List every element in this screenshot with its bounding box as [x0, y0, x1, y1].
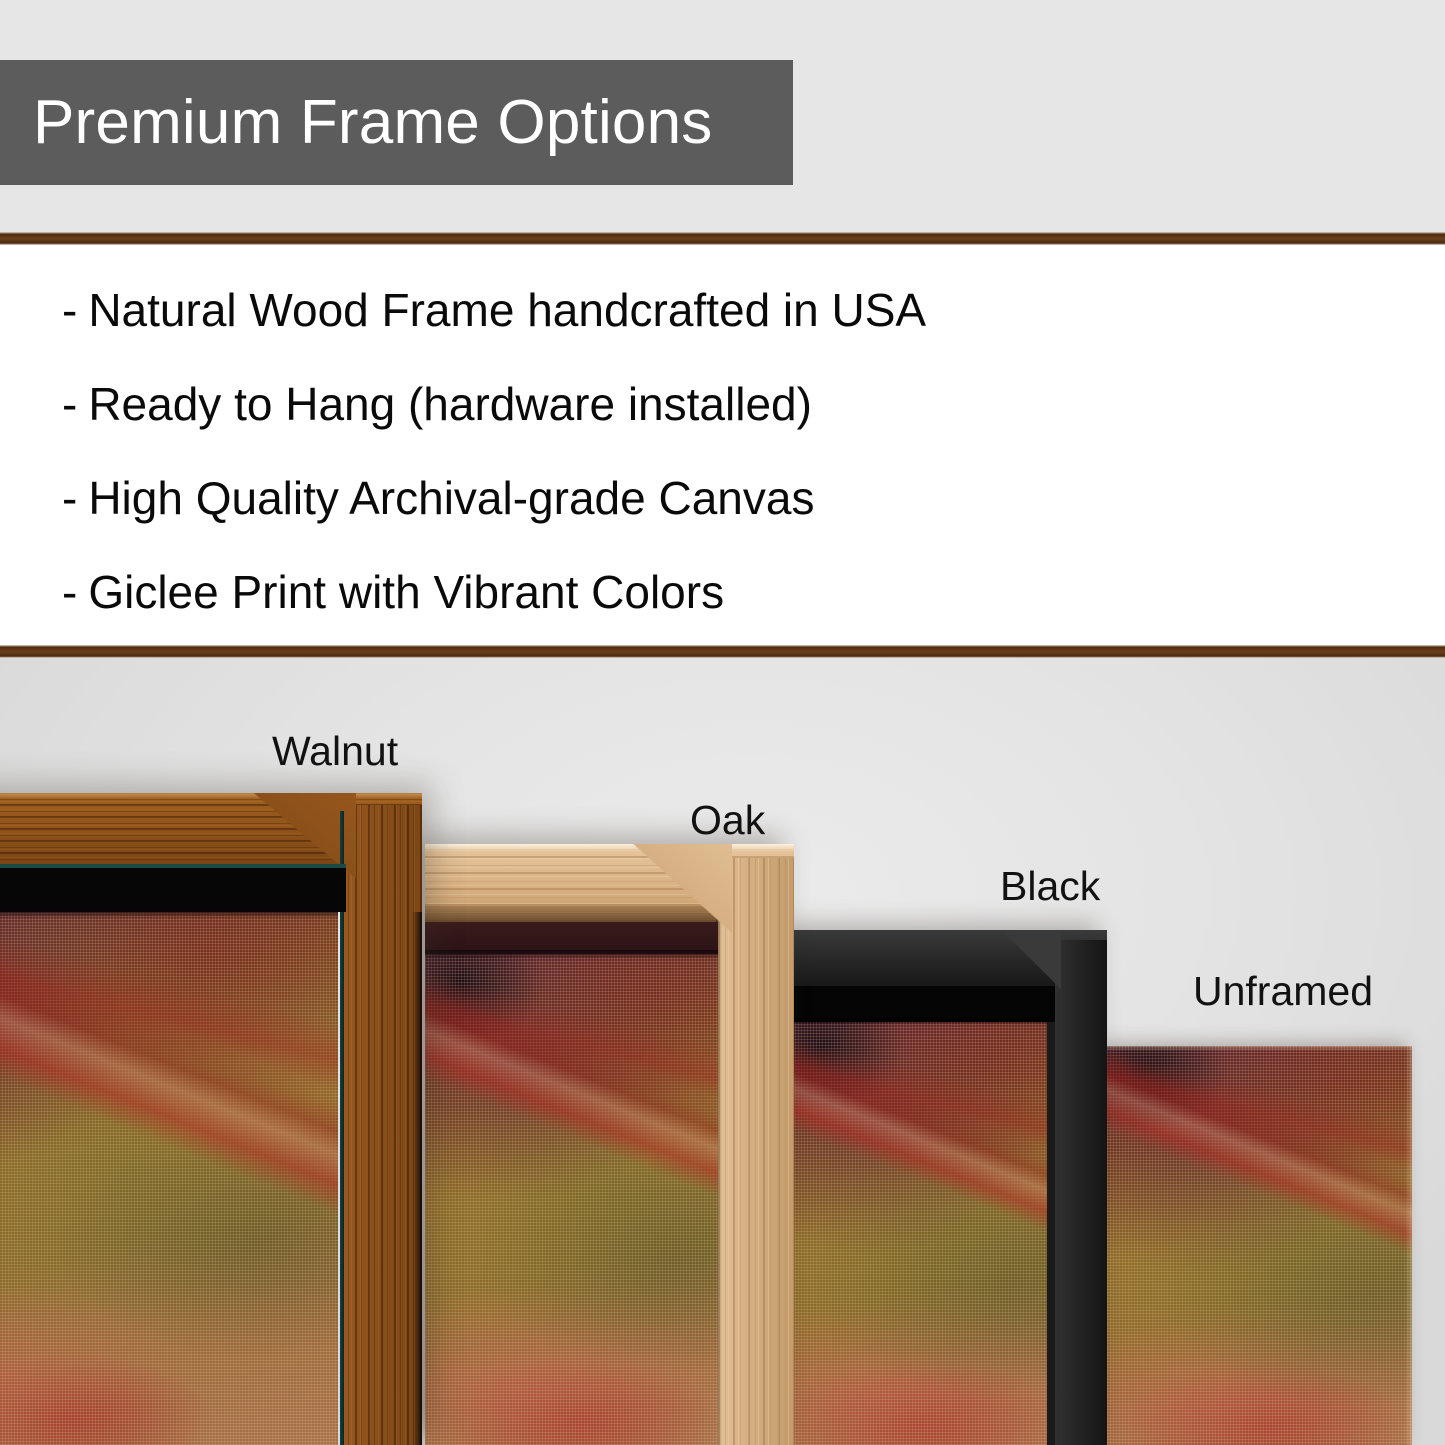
feature-item: -Ready to Hang (hardware installed): [62, 381, 1445, 427]
bullet-dash: -: [62, 475, 77, 521]
divider-bottom: [0, 645, 1445, 658]
unframed-canvas[interactable]: [1107, 1046, 1412, 1445]
divider-top: [0, 232, 1445, 245]
black-frame-right-rail: [1055, 940, 1107, 1445]
bullet-dash: -: [62, 569, 77, 615]
label-unframed: Unframed: [1193, 971, 1373, 1012]
artwork-black: [789, 1022, 1047, 1445]
page-title: Premium Frame Options: [0, 92, 712, 154]
artwork-walnut: [0, 912, 338, 1445]
title-bar: Premium Frame Options: [0, 60, 793, 185]
artwork-unframed: [1107, 1046, 1412, 1445]
black-frame[interactable]: [789, 930, 1107, 1445]
feature-text: High Quality Archival-grade Canvas: [88, 472, 814, 524]
feature-item: -High Quality Archival-grade Canvas: [62, 475, 1445, 521]
label-walnut: Walnut: [272, 731, 398, 772]
features-panel: -Natural Wood Frame handcrafted in USA -…: [0, 245, 1445, 645]
label-black: Black: [1000, 866, 1100, 907]
feature-text: Giclee Print with Vibrant Colors: [88, 566, 724, 618]
oak-frame[interactable]: [425, 844, 794, 1445]
walnut-frame[interactable]: [0, 793, 422, 1445]
frame-options-infographic: Premium Frame Options -Natural Wood Fram…: [0, 0, 1445, 1445]
feature-text: Ready to Hang (hardware installed): [88, 378, 812, 430]
black-frame-liner: [789, 986, 1055, 1022]
bullet-dash: -: [62, 287, 77, 333]
bullet-dash: -: [62, 381, 77, 427]
frame-showcase: Walnut Oak Black Unframed: [0, 658, 1445, 1445]
oak-frame-right-rail: [718, 858, 794, 1445]
features-list: -Natural Wood Frame handcrafted in USA -…: [0, 245, 1445, 663]
feature-text: Natural Wood Frame handcrafted in USA: [88, 284, 926, 336]
feature-item: -Natural Wood Frame handcrafted in USA: [62, 287, 1445, 333]
walnut-frame-right-rail: [342, 805, 422, 1445]
header-band: Premium Frame Options: [0, 0, 1445, 236]
black-frame-miter: [1001, 930, 1061, 992]
feature-item: -Giclee Print with Vibrant Colors: [62, 569, 1445, 615]
walnut-frame-liner: [0, 866, 346, 912]
artwork-oak: [425, 954, 718, 1445]
label-oak: Oak: [690, 800, 765, 841]
